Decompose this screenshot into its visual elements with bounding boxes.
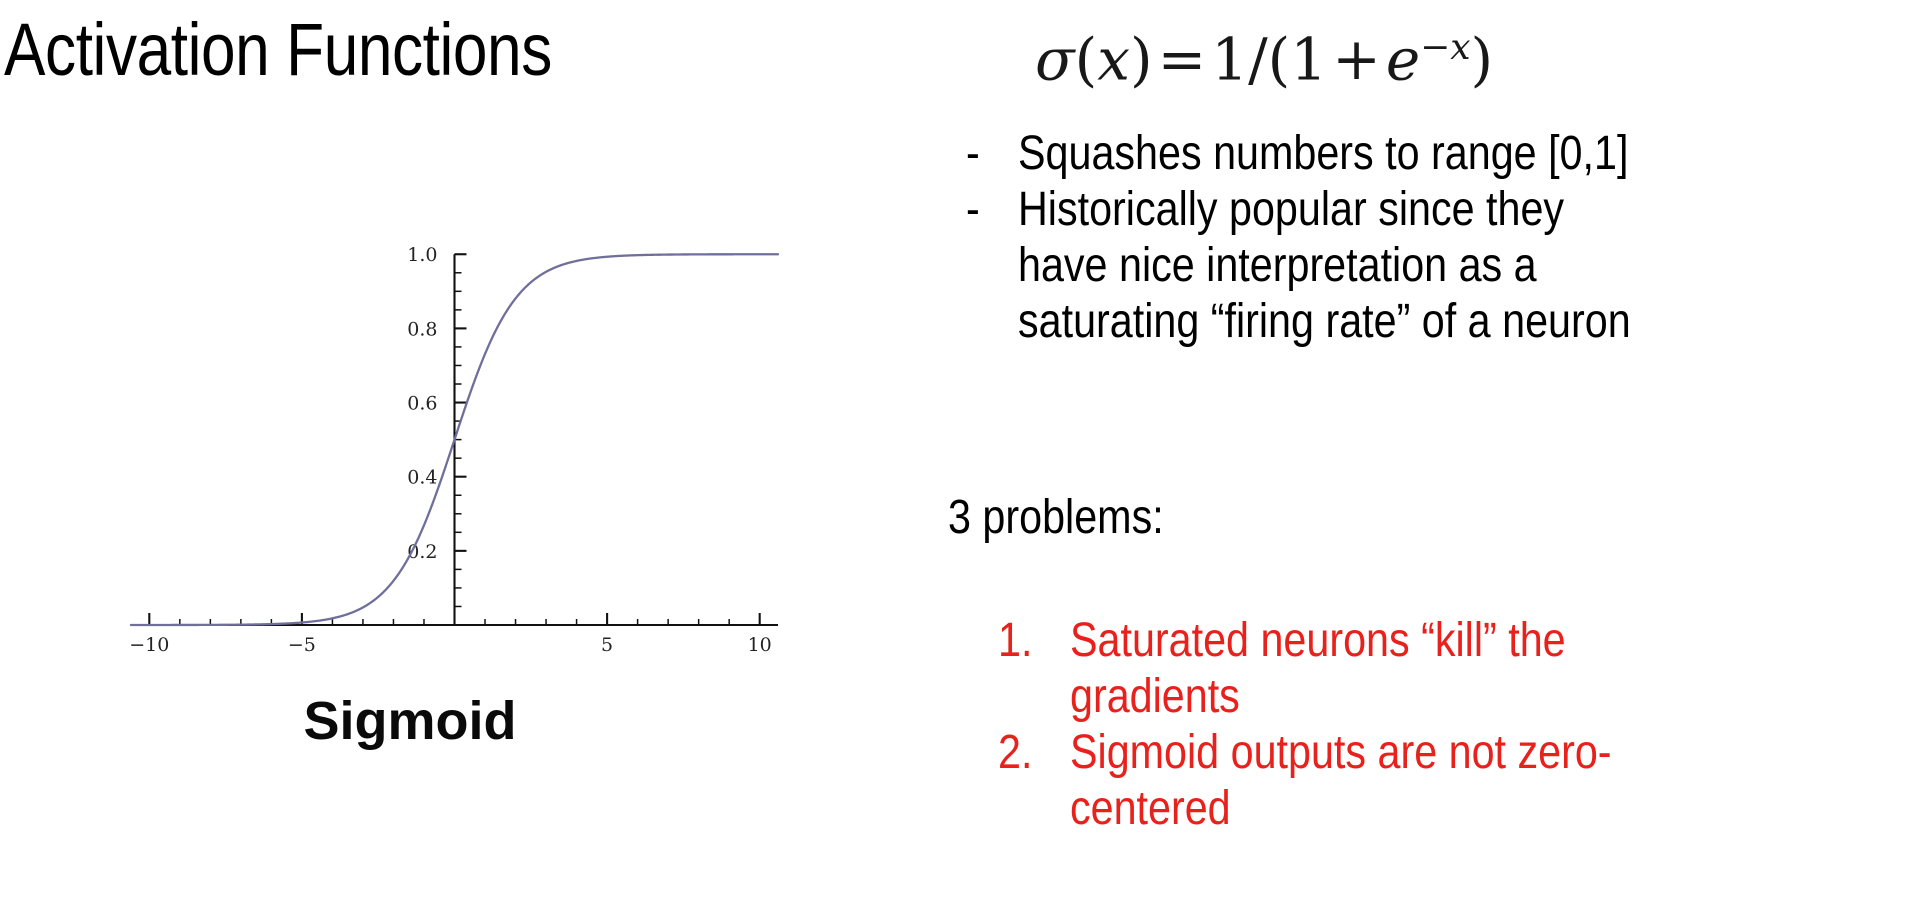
sigmoid-chart: 0.20.40.60.81.0 −10−5510 xyxy=(90,200,810,660)
formula-variable: x xyxy=(1097,25,1130,93)
bullet-text: Squashes numbers to range [0,1] xyxy=(1018,126,1790,182)
list-item-text: Saturated neurons “kill” the xyxy=(1070,613,1808,669)
page-title: Activation Functions xyxy=(4,9,552,91)
formula-one: 1 xyxy=(1290,25,1327,93)
sigmoid-chart-svg: 0.20.40.60.81.0 −10−5510 xyxy=(90,200,810,660)
bullet-text-continuation: saturating “firing rate” of a neuron xyxy=(1018,294,1790,350)
sigmoid-formula: σ(x)=1/(1+e−x) xyxy=(1035,14,1493,93)
y-tick-label: 0.6 xyxy=(407,393,437,415)
problem-list: 1. Saturated neurons “kill” the gradient… xyxy=(998,613,1928,837)
bullet-text: Historically popular since they xyxy=(1018,182,1790,238)
y-axis-tick-labels: 0.20.40.60.81.0 xyxy=(407,244,437,563)
list-item: - Historically popular since they xyxy=(966,182,1916,238)
list-item-text-continuation: centered xyxy=(1070,781,1808,837)
formula-plus: + xyxy=(1327,25,1386,93)
x-tick-label: 10 xyxy=(748,634,772,656)
bullet-list: - Squashes numbers to range [0,1] - Hist… xyxy=(966,126,1916,350)
list-item: 1. Saturated neurons “kill” the xyxy=(998,613,1928,669)
bullet-dash-icon: - xyxy=(966,182,1011,238)
formula-numerator: 1 xyxy=(1211,25,1248,93)
list-item-number: 1. xyxy=(998,613,1060,669)
list-item: 2. Sigmoid outputs are not zero- xyxy=(998,725,1928,781)
formula-euler: e xyxy=(1386,25,1420,93)
formula-open-paren: ( xyxy=(1268,25,1291,93)
formula-open-arg: ( xyxy=(1075,25,1098,93)
bullet-text-continuation: have nice interpretation as a xyxy=(1018,238,1790,294)
y-tick-label: 0.8 xyxy=(407,318,437,340)
y-tick-label: 1.0 xyxy=(407,244,437,266)
list-item: - Squashes numbers to range [0,1] xyxy=(966,126,1916,182)
bullet-dash-icon: - xyxy=(966,126,1011,182)
formula-exponent: −x xyxy=(1420,27,1470,68)
formula-sigma: σ xyxy=(1035,25,1075,93)
formula-equals: = xyxy=(1153,25,1212,93)
list-item-number: 2. xyxy=(998,725,1060,781)
x-tick-label: 5 xyxy=(601,634,613,656)
problems-heading: 3 problems: xyxy=(948,490,1164,546)
formula-close-paren: ) xyxy=(1471,25,1494,93)
formula-close-arg: ) xyxy=(1130,25,1153,93)
x-axis-tick-labels: −10−5510 xyxy=(129,634,772,656)
formula-slash: / xyxy=(1248,25,1268,93)
y-tick-label: 0.4 xyxy=(407,467,437,489)
x-tick-label: −5 xyxy=(288,634,316,656)
list-item-text-continuation: gradients xyxy=(1070,669,1808,725)
x-tick-label: −10 xyxy=(129,634,169,656)
list-item-text: Sigmoid outputs are not zero- xyxy=(1070,725,1808,781)
chart-caption: Sigmoid xyxy=(90,690,730,752)
